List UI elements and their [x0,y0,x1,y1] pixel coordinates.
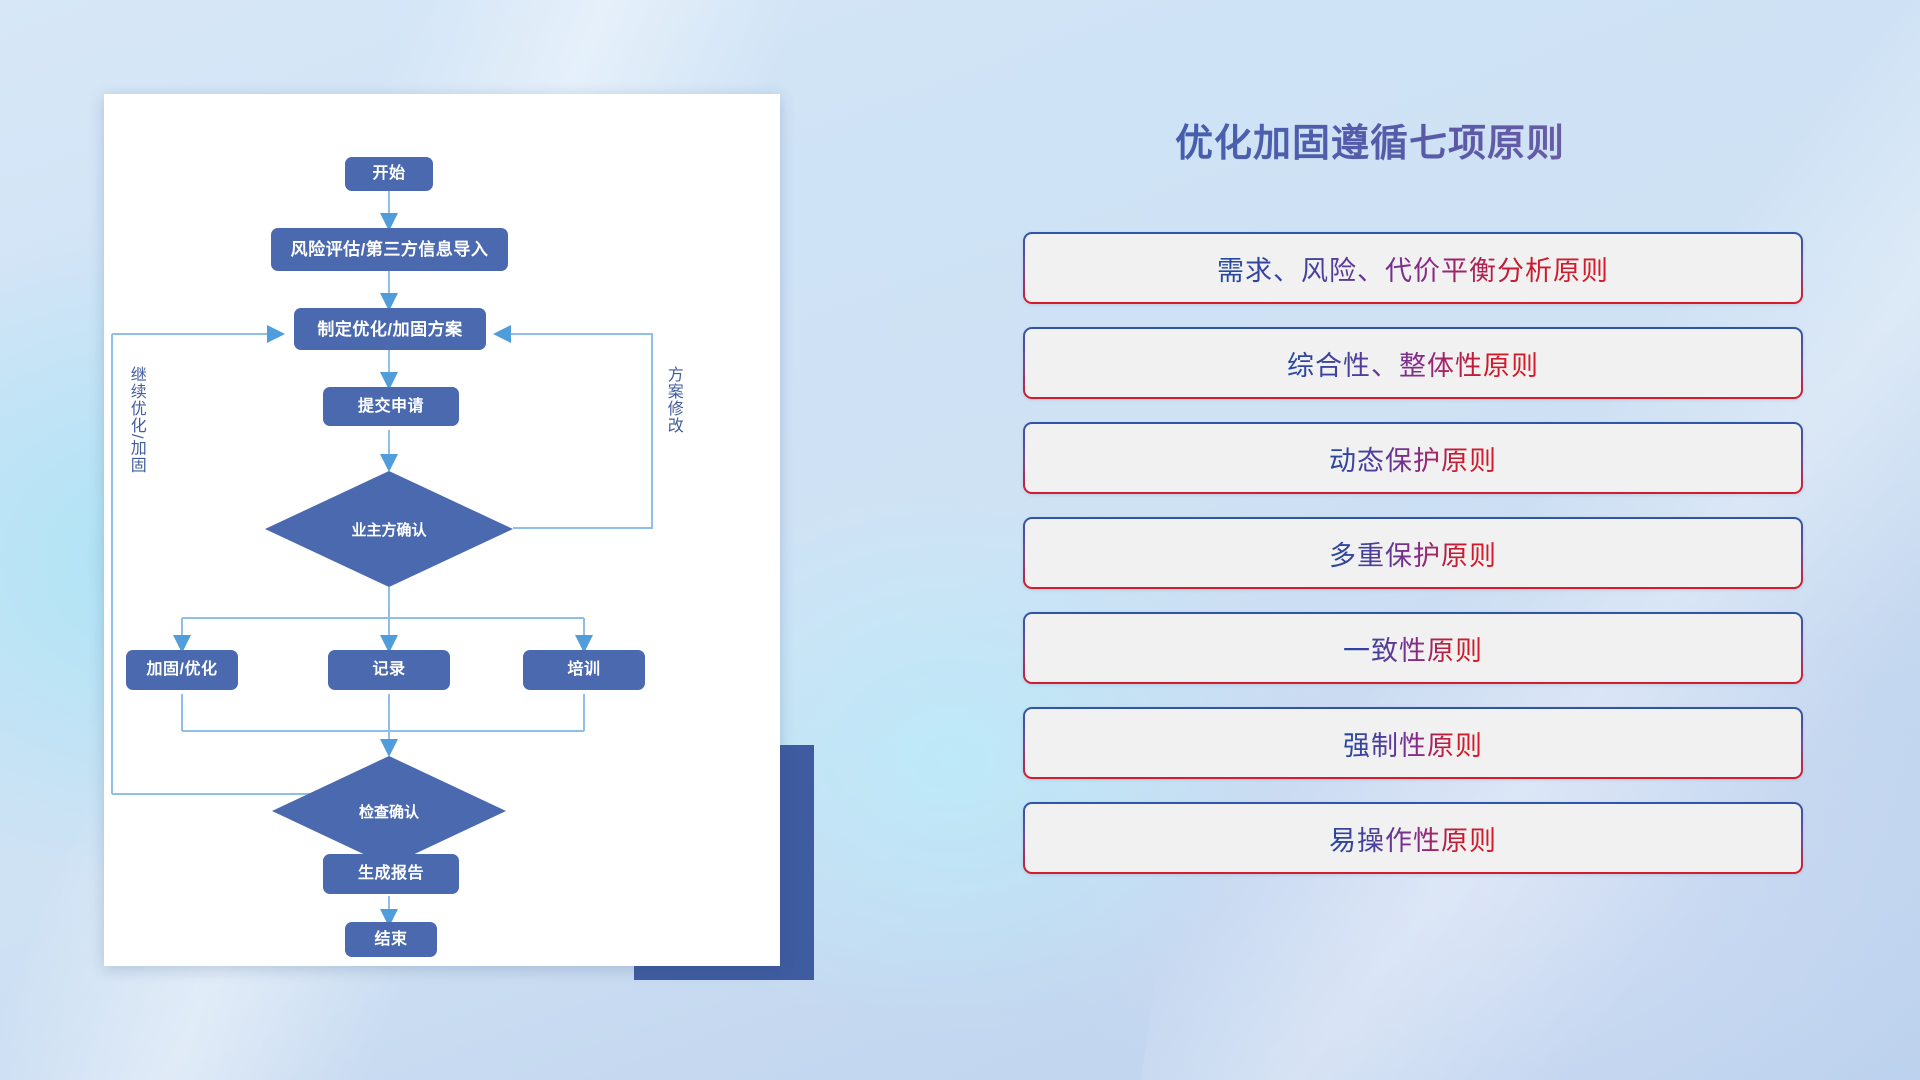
principles-title: 优化加固遵循七项原则 [1020,112,1720,167]
flow-node-end[interactable]: 结束 [345,922,437,957]
principle-card-2[interactable]: 综合性、整体性原则 [1023,327,1803,399]
principle-card-3-label: 动态保护原则 [1329,439,1497,478]
flow-node-reinforce[interactable]: 加固/优化 [126,650,238,690]
flowchart-diagram: 开始 风险评估/第三方信息导入 制定优化/加固方案 提交申请 业主方确认 加固/… [104,94,780,966]
principle-card-3[interactable]: 动态保护原则 [1023,422,1803,494]
principle-card-7[interactable]: 易操作性原则 [1023,802,1803,874]
principle-card-1-label: 需求、风险、代价平衡分析原则 [1217,249,1609,288]
principle-card-2-label: 综合性、整体性原则 [1287,344,1539,383]
flowchart-card: 开始 风险评估/第三方信息导入 制定优化/加固方案 提交申请 业主方确认 加固/… [104,94,780,966]
flow-node-start[interactable]: 开始 [345,157,433,191]
principle-card-5[interactable]: 一致性原则 [1023,612,1803,684]
flow-node-record[interactable]: 记录 [328,650,450,690]
flow-node-training[interactable]: 培训 [523,650,645,690]
principles-list: 需求、风险、代价平衡分析原则 综合性、整体性原则 动态保护原则 多重保护原则 一… [1023,232,1803,874]
principle-card-4[interactable]: 多重保护原则 [1023,517,1803,589]
flow-node-generate-report[interactable]: 生成报告 [323,854,459,894]
flow-edge-label-continue-optimize: 继续优化/加固 [127,366,144,501]
principle-card-6-label: 强制性原则 [1343,724,1483,763]
slide-canvas: 开始 风险评估/第三方信息导入 制定优化/加固方案 提交申请 业主方确认 加固/… [0,0,1920,1080]
diamond-shape [265,471,513,587]
flow-node-risk-assessment[interactable]: 风险评估/第三方信息导入 [271,228,508,271]
principle-card-4-label: 多重保护原则 [1329,534,1497,573]
principle-card-5-label: 一致性原则 [1343,629,1483,668]
principle-card-7-label: 易操作性原则 [1329,819,1497,858]
flow-node-plan[interactable]: 制定优化/加固方案 [294,308,486,350]
principle-card-1[interactable]: 需求、风险、代价平衡分析原则 [1023,232,1803,304]
flow-edge-label-plan-revision: 方案修改 [664,366,681,476]
principle-card-6[interactable]: 强制性原则 [1023,707,1803,779]
flow-node-submit-application[interactable]: 提交申请 [323,387,459,426]
flow-node-check-confirm[interactable]: 检查确认 [272,756,506,866]
flow-node-owner-confirm[interactable]: 业主方确认 [265,471,513,587]
diamond-shape [272,756,506,866]
